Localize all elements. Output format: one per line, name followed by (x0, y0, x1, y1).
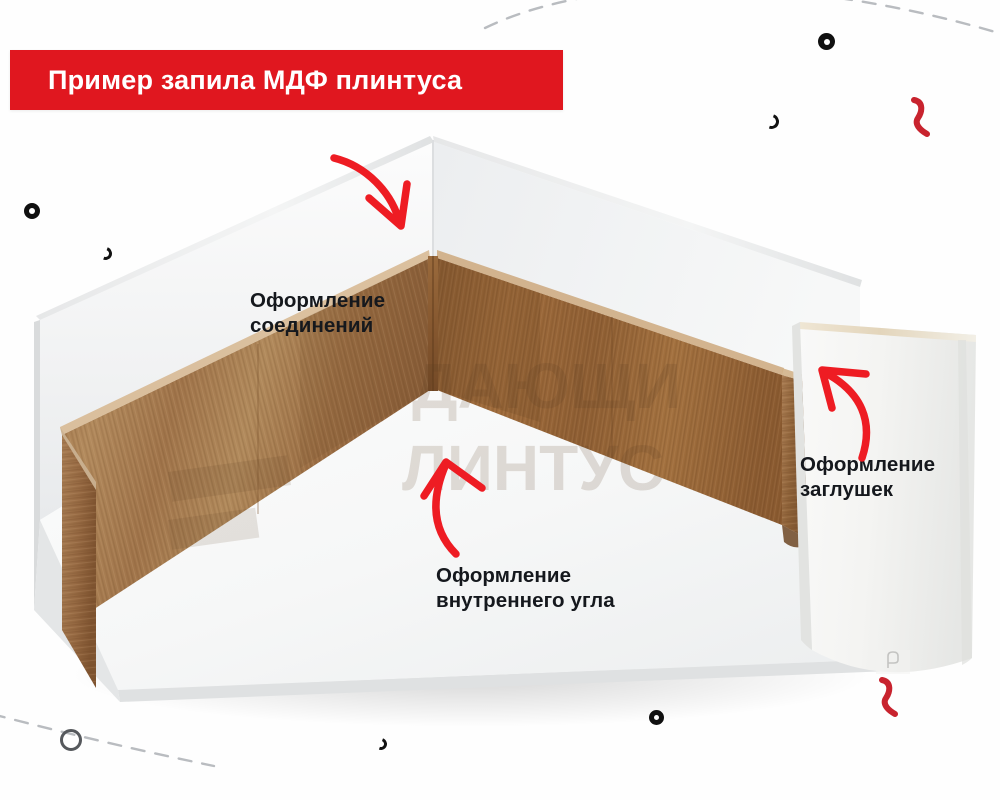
annotation-end-cap-line2: заглушек (800, 477, 935, 502)
annotation-joint-line2: соединений (250, 313, 385, 338)
annotation-joint: Оформление соединений (250, 288, 385, 338)
arrow-to-joint (322, 140, 426, 240)
annotation-inner-corner-line2: внутреннего угла (436, 588, 615, 613)
end-cap-logo (876, 650, 910, 674)
crescent-mark-bottom (373, 736, 389, 752)
title-banner: Пример запила МДФ плинтуса (10, 50, 563, 110)
open-ring-node-bottom-left (60, 729, 82, 751)
title-banner-text: Пример запила МДФ плинтуса (48, 65, 462, 96)
svg-text:ДАЮЩИ: ДАЮЩИ (412, 350, 681, 422)
annotation-inner-corner-line1: Оформление (436, 563, 615, 588)
annotation-joint-line1: Оформление (250, 288, 385, 313)
image-canvas: ДАЮЩИ ЛИНТУС Оформление соединений Оформ… (0, 0, 1000, 800)
arrow-to-end-cap (800, 352, 900, 462)
annotation-inner-corner: Оформление внутреннего угла (436, 563, 615, 613)
arrow-to-inner-corner (412, 440, 512, 558)
ring-mark-top-right (818, 33, 835, 50)
